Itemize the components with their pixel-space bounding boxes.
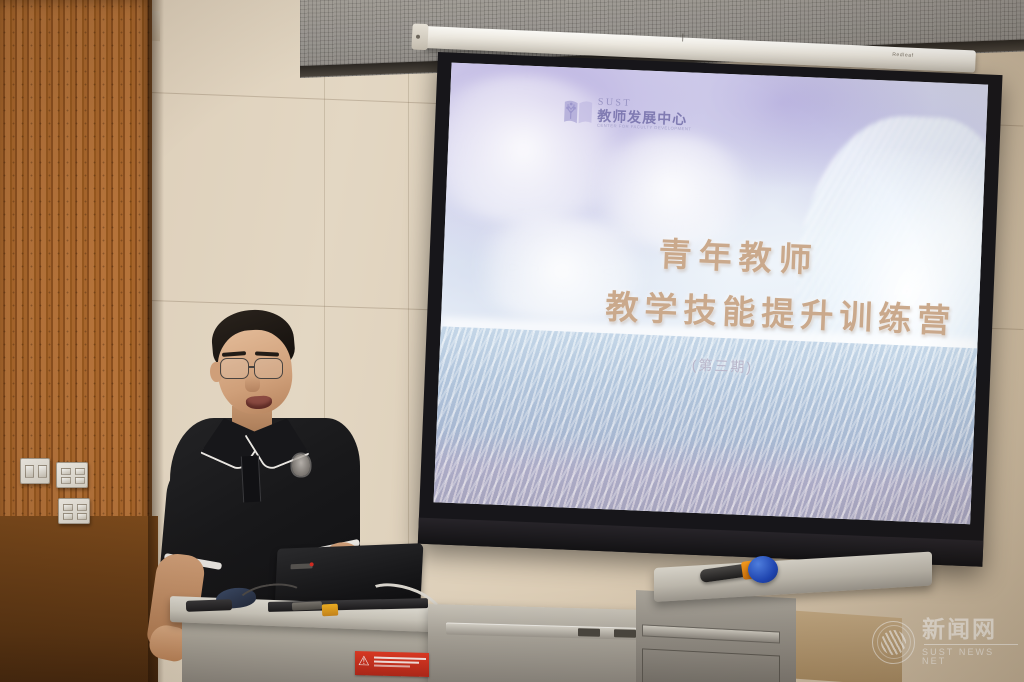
presenter-nose — [245, 376, 260, 392]
lectern-right-lower-panel — [642, 648, 780, 682]
lectern-right-drawer[interactable] — [642, 624, 780, 643]
presenter-remote-icon[interactable] — [186, 599, 232, 612]
open-book-tree-icon — [562, 96, 594, 128]
slide-logo: SUST 教师发展中心 CENTER FOR FACULTY DEVELOPME… — [562, 96, 693, 132]
switch-plate-middle[interactable] — [56, 462, 88, 488]
presenter-shirt-placket — [241, 456, 261, 503]
console-slot-2[interactable] — [614, 629, 636, 638]
switch-plate-lower[interactable] — [58, 498, 90, 524]
laptop-brand-logo — [290, 563, 312, 569]
eyeglasses-lens-left — [220, 358, 249, 379]
eyeglasses-lens-right — [254, 358, 283, 379]
screen-housing-seam — [682, 33, 683, 41]
slide-title-line-1: 青年教师 — [658, 227, 820, 282]
embroidered-crest-icon — [292, 454, 310, 476]
screen-brand-label: Redleaf — [892, 52, 914, 59]
switch-plate-left[interactable] — [20, 458, 50, 484]
warning-sticker-text — [374, 656, 426, 669]
watermark-divider — [924, 644, 1018, 646]
watermark-english: SUST NEWS NET — [922, 648, 1018, 666]
console-slot-1[interactable] — [578, 628, 600, 637]
slide-subtitle: (第三期) — [691, 354, 753, 376]
watermark-text: 新闻网 SUST NEWS NET — [922, 618, 1018, 667]
slide-surface: SUST 教师发展中心 CENTER FOR FACULTY DEVELOPME… — [434, 63, 989, 525]
sust-news-emblem-icon — [872, 621, 915, 664]
lecture-hall-photo: Redleaf — [0, 0, 1024, 682]
yellow-usb-adapter-icon[interactable] — [322, 604, 339, 617]
eyeglasses-bridge — [249, 366, 255, 368]
watermark-chinese: 新闻网 — [922, 618, 1018, 641]
screen-housing-end-cap — [411, 23, 428, 50]
wood-panel-lower-dark — [0, 516, 158, 682]
news-watermark: 新闻网 SUST NEWS NET — [872, 612, 1018, 672]
warning-sticker — [355, 651, 429, 677]
projection-screen[interactable]: SUST 教师发展中心 CENTER FOR FACULTY DEVELOPME… — [418, 52, 1003, 567]
slide-logo-text: SUST 教师发展中心 CENTER FOR FACULTY DEVELOPME… — [597, 98, 693, 132]
lectern-right-front — [636, 590, 796, 682]
handheld-microphone-icon[interactable] — [748, 556, 778, 583]
